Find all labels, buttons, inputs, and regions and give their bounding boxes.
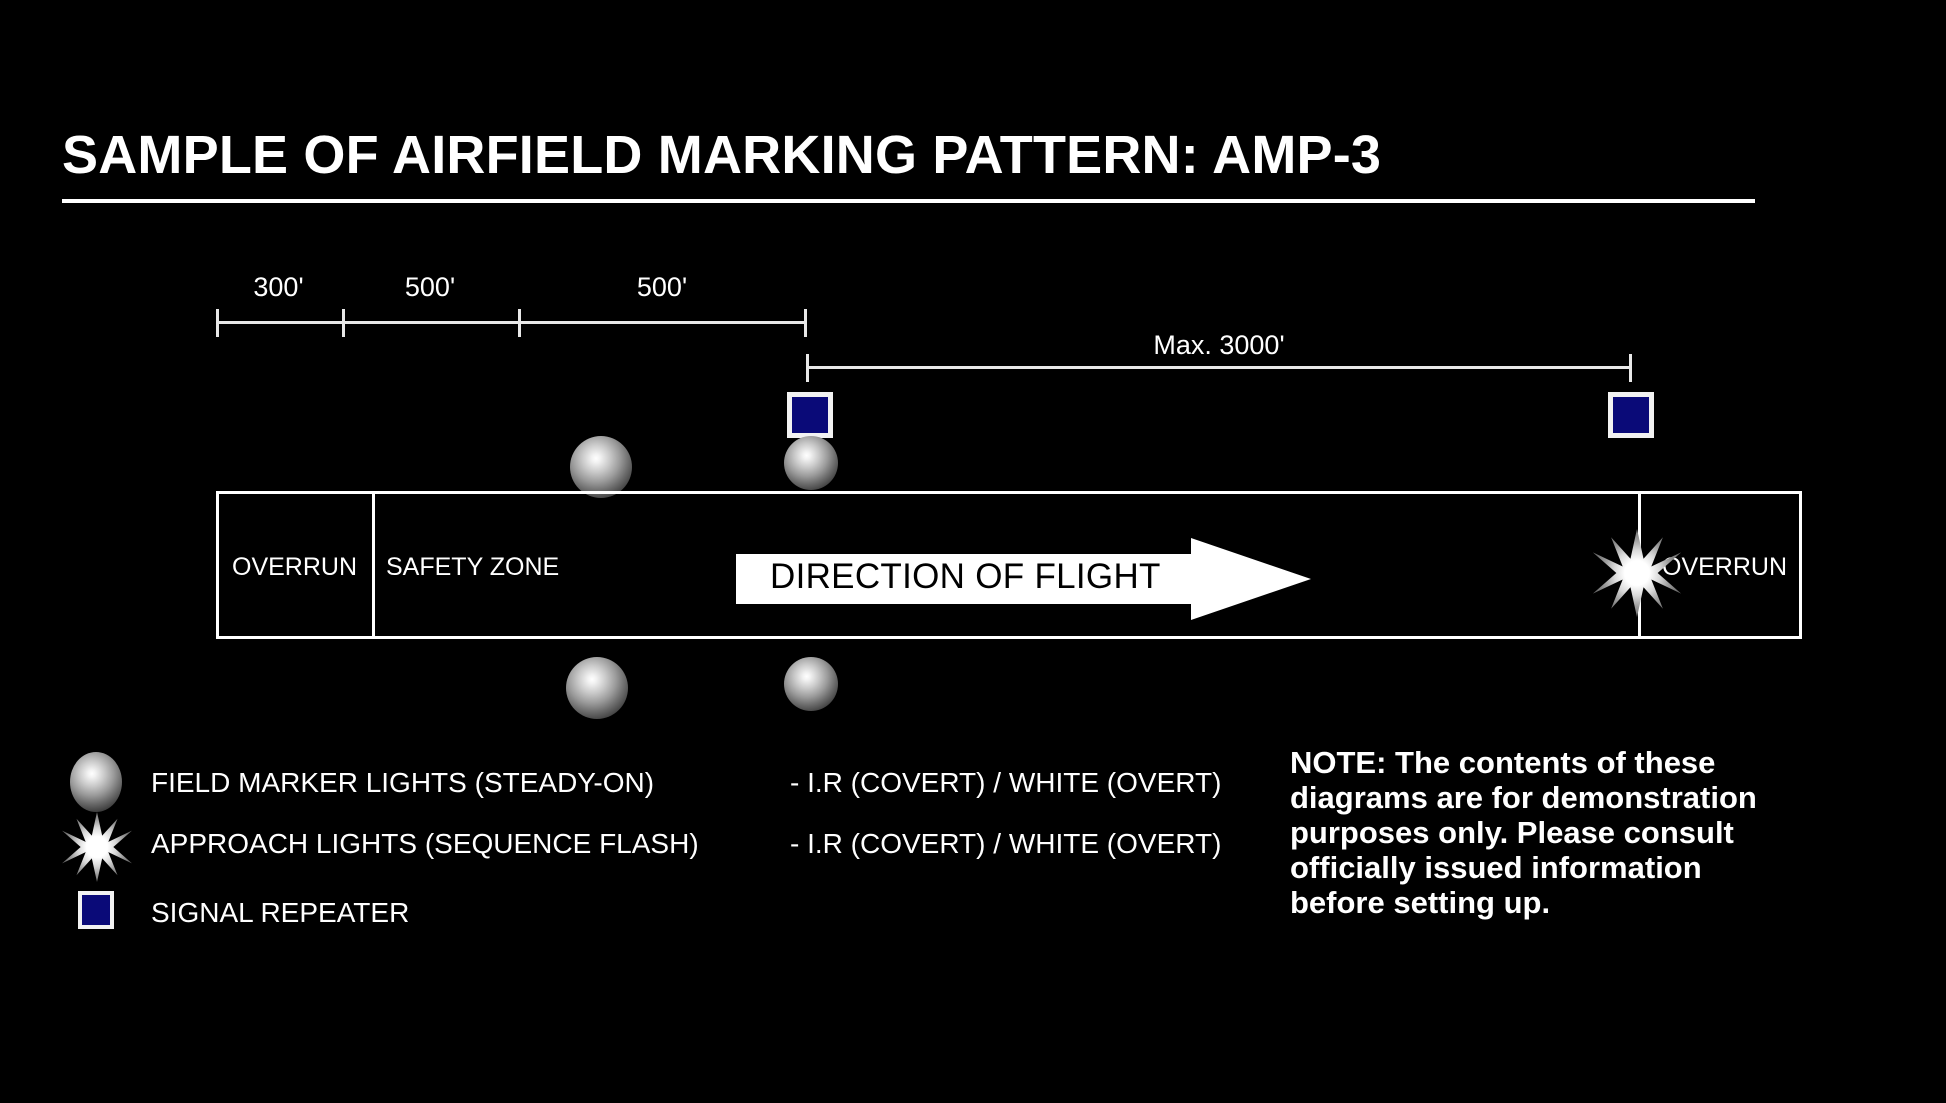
dimension-label-500-a: 500' <box>342 272 518 303</box>
approach-light-star-icon-runway[interactable] <box>1589 525 1685 621</box>
note-line-1: NOTE: The contents of these <box>1290 745 1890 780</box>
legend-icon-field-marker-light <box>70 752 122 812</box>
note-block: NOTE: The contents of these diagrams are… <box>1290 745 1890 920</box>
legend-icon-approach-light-star <box>59 809 135 885</box>
note-line-4: officially issued information <box>1290 850 1890 885</box>
field-marker-light-lower-2[interactable] <box>784 657 838 711</box>
note-line-5: before setting up. <box>1290 885 1890 920</box>
field-marker-light-lower-1[interactable] <box>566 657 628 719</box>
dimension-label-max-3000: Max. 3000' <box>806 330 1632 361</box>
legend-label-signal-repeater: SIGNAL REPEATER <box>151 897 409 929</box>
dimension-label-300: 300' <box>215 272 342 303</box>
direction-of-flight-label: DIRECTION OF FLIGHT <box>770 557 1161 597</box>
dimension-label-500-b: 500' <box>518 272 806 303</box>
field-marker-light-upper-2[interactable] <box>784 436 838 490</box>
zone-label-overrun-left: OVERRUN <box>232 553 357 582</box>
runway-divider-left <box>372 491 375 639</box>
dimension-tick-0 <box>216 309 219 337</box>
zone-label-safety-zone: SAFETY ZONE <box>386 553 559 582</box>
dimension-line-upper <box>216 321 806 324</box>
legend-label-approach-lights: APPROACH LIGHTS (SEQUENCE FLASH) <box>151 828 699 860</box>
signal-repeater-left[interactable] <box>787 392 833 438</box>
note-line-2: diagrams are for demonstration <box>1290 780 1890 815</box>
legend-icon-signal-repeater <box>78 891 114 929</box>
note-line-3: purposes only. Please consult <box>1290 815 1890 850</box>
legend-label-field-marker-lights: FIELD MARKER LIGHTS (STEADY-ON) <box>151 767 654 799</box>
dimension-tick-1 <box>342 309 345 337</box>
dimension-line-max-3000 <box>806 366 1632 369</box>
legend-note-approach-lights: - I.R (COVERT) / WHITE (OVERT) <box>790 828 1221 860</box>
dimension-tick-max-right <box>1629 354 1632 382</box>
dimension-tick-2 <box>518 309 521 337</box>
dimension-tick-max-left <box>806 354 809 382</box>
field-marker-light-upper-1[interactable] <box>570 436 632 498</box>
legend-note-field-marker-lights: - I.R (COVERT) / WHITE (OVERT) <box>790 767 1221 799</box>
signal-repeater-right[interactable] <box>1608 392 1654 438</box>
title-underline <box>62 199 1755 203</box>
page-title: SAMPLE OF AIRFIELD MARKING PATTERN: AMP-… <box>62 124 1381 186</box>
